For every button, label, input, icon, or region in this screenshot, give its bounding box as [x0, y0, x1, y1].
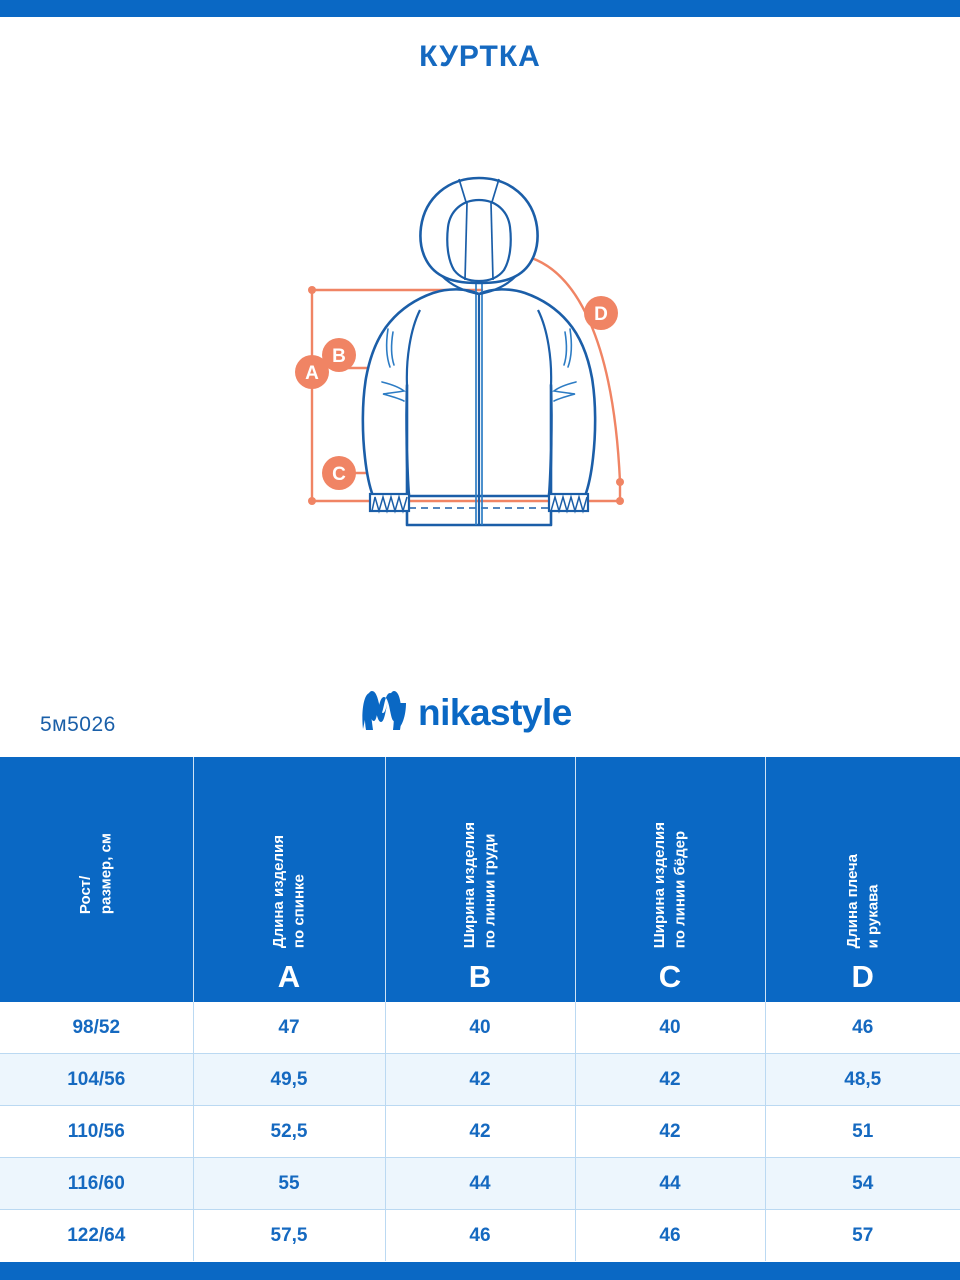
cell-b: 46: [385, 1210, 575, 1262]
brand-name: nikastyle: [418, 694, 572, 731]
cell-b: 42: [385, 1054, 575, 1106]
cell-size: 110/56: [0, 1106, 193, 1158]
bottom-brand-bar: [0, 1262, 960, 1280]
cell-size: 104/56: [0, 1054, 193, 1106]
table-row: 110/56 52,5 42 42 51: [0, 1106, 960, 1158]
cell-size: 116/60: [0, 1158, 193, 1210]
size-table-head: Рост/ размер, см Длина изделия по спинке…: [0, 757, 960, 1002]
marker-d: D: [584, 296, 618, 330]
marker-a-label: A: [305, 363, 319, 384]
cell-a: 47: [193, 1002, 385, 1054]
marker-b-label: B: [332, 346, 346, 367]
marker-b: B: [322, 338, 356, 372]
cell-c: 46: [575, 1210, 765, 1262]
cell-d: 46: [765, 1002, 960, 1054]
column-header-c: Ширина изделия по линии бёдер C: [575, 757, 765, 1002]
jacket-hood: [420, 178, 537, 283]
table-row: 104/56 49,5 42 42 48,5: [0, 1054, 960, 1106]
cell-c: 44: [575, 1158, 765, 1210]
cell-b: 40: [385, 1002, 575, 1054]
cell-a: 49,5: [193, 1054, 385, 1106]
cell-a: 52,5: [193, 1106, 385, 1158]
nikastyle-wave-mark-icon: [360, 689, 408, 736]
size-table: Рост/ размер, см Длина изделия по спинке…: [0, 757, 960, 1261]
column-header-a: Длина изделия по спинке A: [193, 757, 385, 1002]
table-row: 98/52 47 40 40 46: [0, 1002, 960, 1054]
column-header-d: Длина плеча и рукава D: [765, 757, 960, 1002]
page-title: КУРТКА: [0, 40, 960, 74]
jacket-cuff-left: [370, 494, 409, 511]
cell-d: 57: [765, 1210, 960, 1262]
cell-c: 42: [575, 1106, 765, 1158]
cell-size: 98/52: [0, 1002, 193, 1054]
top-brand-bar: [0, 0, 960, 17]
cell-c: 40: [575, 1002, 765, 1054]
jacket-cuff-right: [549, 494, 588, 511]
column-header-size: Рост/ размер, см: [0, 757, 193, 1002]
cell-size: 122/64: [0, 1210, 193, 1262]
cell-a: 55: [193, 1158, 385, 1210]
marker-c-label: C: [332, 464, 346, 485]
size-table-header-row: Рост/ размер, см Длина изделия по спинке…: [0, 757, 960, 1002]
marker-c: C: [322, 456, 356, 490]
cell-d: 51: [765, 1106, 960, 1158]
table-row: 122/64 57,5 46 46 57: [0, 1210, 960, 1262]
cell-a: 57,5: [193, 1210, 385, 1262]
article-code: 5м5026: [40, 713, 116, 737]
cell-b: 44: [385, 1158, 575, 1210]
cell-d: 48,5: [765, 1054, 960, 1106]
cell-b: 42: [385, 1106, 575, 1158]
size-table-body: 98/52 47 40 40 46 104/56 49,5 42 42 48,5…: [0, 1002, 960, 1261]
brand-logo: nikastyle: [360, 686, 605, 738]
table-row: 116/60 55 44 44 54: [0, 1158, 960, 1210]
cell-d: 54: [765, 1158, 960, 1210]
jacket-diagram: A B C D: [270, 170, 690, 570]
column-header-b: Ширина изделия по линии груди B: [385, 757, 575, 1002]
marker-d-label: D: [594, 304, 608, 325]
cell-c: 42: [575, 1054, 765, 1106]
